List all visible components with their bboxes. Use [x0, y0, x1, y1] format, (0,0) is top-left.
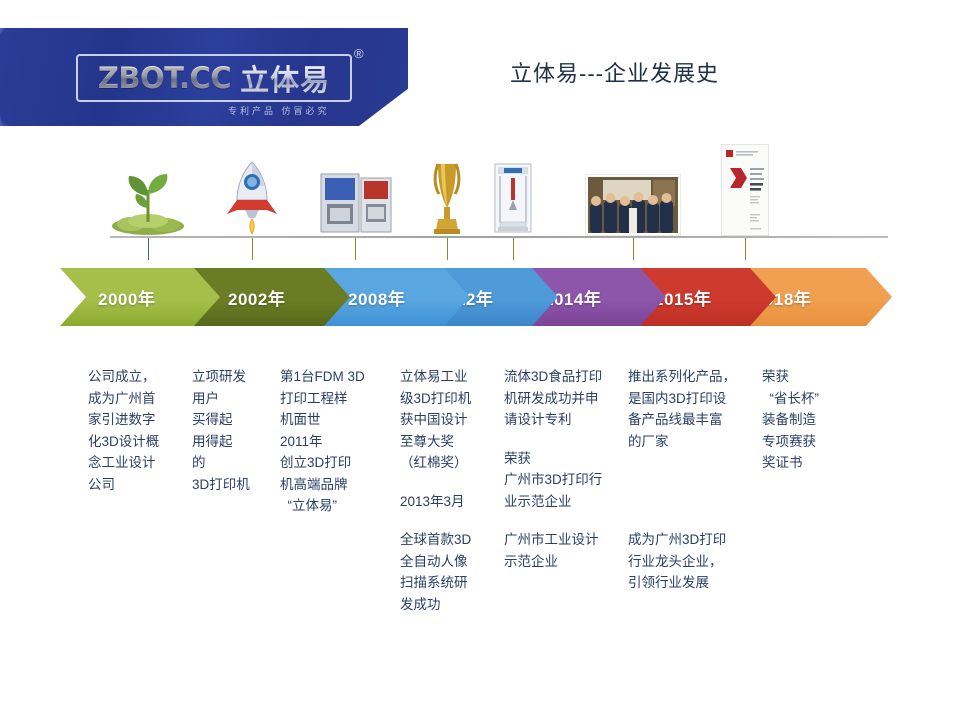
description-line: 3D打印机 — [192, 474, 272, 496]
description-paragraph: 立项研发用户买得起用得起的3D打印机 — [192, 366, 272, 495]
description-paragraph: 推出系列化产品，是国内3D打印设备产品线最丰富的厂家 — [628, 366, 740, 452]
description-line: 行业龙头企业， — [628, 551, 740, 573]
timeline-milestone-2000[interactable]: 2000年 — [60, 268, 220, 326]
description-line: 业示范企业 — [504, 491, 608, 513]
milestone-description-column: 公司成立，成为广州首家引进数字化3D设计概念工业设计公司 — [88, 366, 184, 495]
logo-chinese-text: 立体易 — [240, 57, 330, 99]
description-line: 装备制造 — [762, 409, 858, 431]
description-line: 公司 — [88, 474, 184, 496]
description-line: 创立3D打印 — [280, 452, 384, 474]
description-paragraph: 成为广州3D打印行业龙头企业，引领行业发展 — [628, 529, 740, 594]
description-paragraph: 公司成立，成为广州首家引进数字化3D设计概念工业设计公司 — [88, 366, 184, 495]
description-line: 全自动人像 — [400, 551, 496, 573]
description-line: 机研发成功并申 — [504, 388, 608, 410]
milestone-year-label: 2000年 — [60, 285, 155, 310]
description-line: 是国内3D打印设 — [628, 388, 740, 410]
description-line: “立体易” — [280, 495, 384, 517]
description-line: 备产品线最丰富 — [628, 409, 740, 431]
description-paragraph: 流体3D食品打印机研发成功并申请设计专利 — [504, 366, 608, 431]
description-line: 的厂家 — [628, 431, 740, 453]
description-line: 立项研发 — [192, 366, 272, 388]
milestone-description-column: 流体3D食品打印机研发成功并申请设计专利荣获广州市3D打印行业示范企业广州市工业… — [504, 366, 608, 572]
description-line: 的 — [192, 452, 272, 474]
description-line: 打印工程样 — [280, 388, 384, 410]
trophy-icon — [427, 160, 467, 236]
description-paragraph: 全球首款3D全自动人像扫描系统研发成功 — [400, 529, 496, 615]
milestone-description-column: 荣获 “省长杯”装备制造专项赛获奖证书 — [762, 366, 858, 474]
description-line: 引领行业发展 — [628, 572, 740, 594]
axis-tick — [633, 238, 634, 260]
milestone-description-column: 立体易工业级3D打印机获中国设计至尊大奖（红棉奖）2013年3月全球首款3D全自… — [400, 366, 496, 615]
description-line: 荣获 — [504, 448, 608, 470]
description-line: （红棉奖） — [400, 452, 496, 474]
description-paragraph: 第1台FDM 3D打印工程样机面世2011年创立3D打印机高端品牌 “立体易” — [280, 366, 384, 517]
description-line — [628, 469, 740, 491]
delta-printer-icon — [490, 160, 536, 236]
description-line: 用户 — [192, 388, 272, 410]
axis-tick — [745, 238, 746, 260]
description-line: 获中国设计 — [400, 409, 496, 431]
registered-trademark-icon: ® — [354, 46, 364, 61]
group-photo-icon — [585, 174, 681, 236]
description-line: 全球首款3D — [400, 529, 496, 551]
description-line: 买得起 — [192, 409, 272, 431]
description-line: 奖证书 — [762, 452, 858, 474]
description-paragraph: 广州市工业设计示范企业 — [504, 529, 608, 572]
description-line: 荣获 — [762, 366, 858, 388]
milestone-description-column: 立项研发用户买得起用得起的3D打印机 — [192, 366, 272, 495]
timeline-chevrons: 2000年2002年2008年2012年2014年2015年2018年 — [0, 268, 960, 330]
milestone-descriptions: 公司成立，成为广州首家引进数字化3D设计概念工业设计公司立项研发用户买得起用得起… — [0, 366, 960, 666]
description-line: 家引进数字 — [88, 409, 184, 431]
description-line: 广州市3D打印行 — [504, 469, 608, 491]
axis-tick — [355, 238, 356, 260]
timeline-axis — [110, 236, 888, 238]
brand-banner: ZBOT.CC 立体易 ® 专利产品 仿冒必究 — [0, 28, 408, 126]
milestone-description-column: 第1台FDM 3D打印工程样机面世2011年创立3D打印机高端品牌 “立体易” — [280, 366, 384, 517]
description-line — [628, 491, 740, 513]
description-line: 发成功 — [400, 594, 496, 616]
description-paragraph: 荣获广州市3D打印行业示范企业 — [504, 448, 608, 513]
description-line: 专项赛获 — [762, 431, 858, 453]
axis-tick — [252, 238, 253, 260]
description-line: 2013年3月 — [400, 491, 496, 513]
logo-latin-text: ZBOT.CC — [98, 61, 231, 95]
description-line: 化3D设计概 — [88, 431, 184, 453]
page-title: 立体易---企业发展史 — [510, 56, 719, 88]
axis-tick — [148, 238, 149, 260]
description-line: 流体3D食品打印 — [504, 366, 608, 388]
rocket-icon — [223, 158, 281, 236]
description-line: 念工业设计 — [88, 452, 184, 474]
description-line: 请设计专利 — [504, 409, 608, 431]
logo-tagline: 专利产品 仿冒必究 — [228, 104, 330, 117]
description-paragraph: 荣获 “省长杯”装备制造专项赛获奖证书 — [762, 366, 858, 474]
description-line: 推出系列化产品， — [628, 366, 740, 388]
certificate-icon — [721, 144, 769, 236]
description-line: 示范企业 — [504, 551, 608, 573]
description-line: 成为广州3D打印 — [628, 529, 740, 551]
description-line: 机高端品牌 — [280, 474, 384, 496]
printer-pair-icon — [313, 160, 397, 236]
description-line: 至尊大奖 — [400, 431, 496, 453]
description-line: 级3D打印机 — [400, 388, 496, 410]
milestone-description-column: 推出系列化产品，是国内3D打印设备产品线最丰富的厂家 成为广州3D打印行业龙头企… — [628, 366, 740, 594]
milestone-icon-strip — [0, 138, 960, 236]
description-line: 公司成立， — [88, 366, 184, 388]
axis-tick — [513, 238, 514, 260]
description-line: “省长杯” — [762, 388, 858, 410]
seedling-icon — [109, 164, 187, 236]
description-paragraph — [628, 469, 740, 512]
description-line: 机面世 — [280, 409, 384, 431]
description-paragraph: 2013年3月 — [400, 491, 496, 513]
description-line: 用得起 — [192, 431, 272, 453]
description-line: 立体易工业 — [400, 366, 496, 388]
description-line: 成为广州首 — [88, 388, 184, 410]
description-line: 扫描系统研 — [400, 572, 496, 594]
description-paragraph: 立体易工业级3D打印机获中国设计至尊大奖（红棉奖） — [400, 366, 496, 474]
description-line: 2011年 — [280, 431, 384, 453]
company-logo: ZBOT.CC 立体易 — [76, 54, 352, 102]
description-line: 第1台FDM 3D — [280, 366, 384, 388]
axis-tick — [447, 238, 448, 260]
description-line: 广州市工业设计 — [504, 529, 608, 551]
